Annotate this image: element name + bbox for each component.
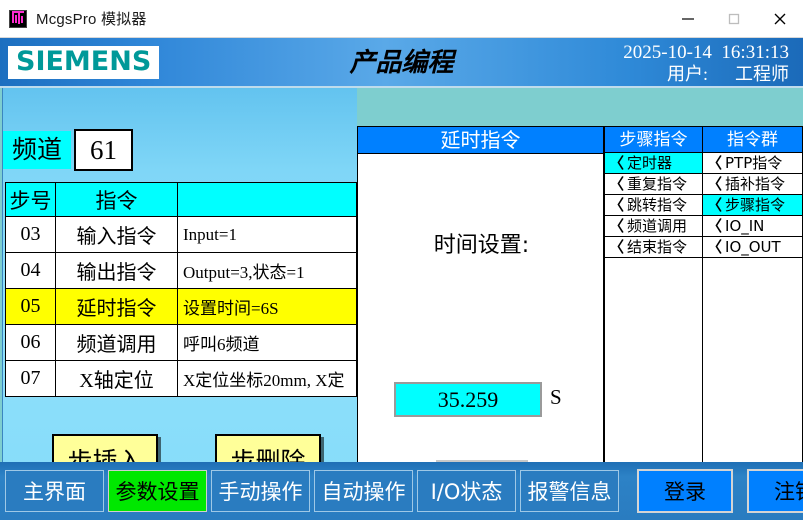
command-group-item-label: 插补指令 [725,175,785,193]
command-name-cell: 频道调用 [56,325,178,361]
minimize-button[interactable] [665,0,711,38]
chevron-left-icon: 〈 [609,154,624,172]
step-command-panel: 步骤指令 〈定时器〈重复指令〈跳转指令〈频道调用〈结束指令 [604,126,703,501]
step-number-cell: 03 [6,217,56,253]
step-command-item-label: 频道调用 [627,217,687,235]
command-group-item[interactable]: 〈插补指令 [703,174,802,195]
step-number-cell: 05 [6,289,56,325]
nav-button-6[interactable]: 登录 [637,469,733,513]
table-row[interactable]: 04输出指令Output=3,状态=1 [6,253,357,289]
chevron-left-icon: 〈 [609,238,624,256]
table-header-row: 步号指令 [6,183,357,217]
app-root: McgsPro 模拟器 SIEMENS 产品编程 2025-10-14 16:3… [0,0,803,520]
nav-button-2[interactable]: 手动操作 [211,470,310,512]
command-group-list: 〈PTP指令〈插补指令〈步骤指令〈IO_IN〈IO_OUT [703,153,802,258]
step-command-panel-header: 步骤指令 [605,127,702,153]
close-button[interactable] [757,0,803,38]
command-group-item[interactable]: 〈IO_IN [703,216,802,237]
nav-button-1[interactable]: 参数设置 [108,470,207,512]
step-command-item-label: 重复指令 [627,175,687,193]
table-row[interactable]: 03输入指令Input=1 [6,217,357,253]
nav-button-label: I/O状态 [431,476,503,506]
bottom-navbar: 主界面参数设置手动操作自动操作I/O状态报警信息登录注销 [0,462,803,520]
nav-button-label: 自动操作 [322,476,406,506]
nav-button-3[interactable]: 自动操作 [314,470,413,512]
command-param-cell: 设置时间=6S [178,289,357,325]
chevron-left-icon: 〈 [707,175,722,193]
command-name-cell: 输出指令 [56,253,178,289]
time-value-input[interactable]: 35.259 [394,382,542,417]
step-command-item-label: 定时器 [627,154,672,172]
maximize-button[interactable] [711,0,757,38]
command-param-cell: 呼叫6频道 [178,325,357,361]
nav-button-label: 参数设置 [116,476,200,506]
nav-button-7[interactable]: 注销 [747,469,803,513]
step-command-item-label: 跳转指令 [627,196,687,214]
command-group-item-label: IO_OUT [725,238,781,256]
table-row[interactable]: 06频道调用呼叫6频道 [6,325,357,361]
table-header-cell [178,183,357,217]
table-header-cell: 指令 [56,183,178,217]
chevron-left-icon: 〈 [609,196,624,214]
chevron-left-icon: 〈 [707,238,722,256]
nav-button-4[interactable]: I/O状态 [417,470,516,512]
command-name-cell: X轴定位 [56,361,178,397]
step-command-item[interactable]: 〈频道调用 [605,216,702,237]
chevron-left-icon: 〈 [707,154,722,172]
command-group-item[interactable]: 〈PTP指令 [703,153,802,174]
command-group-item[interactable]: 〈IO_OUT [703,237,802,258]
command-group-panel: 指令群 〈PTP指令〈插补指令〈步骤指令〈IO_IN〈IO_OUT [703,126,803,501]
command-group-item-label: IO_IN [725,217,764,235]
nav-button-label: 注销 [774,476,803,506]
table-row[interactable]: 05延时指令设置时间=6S [6,289,357,325]
step-command-item-label: 结束指令 [627,238,687,256]
window-titlebar: McgsPro 模拟器 [0,0,803,38]
command-group-item[interactable]: 〈步骤指令 [703,195,802,216]
step-number-cell: 04 [6,253,56,289]
command-name-cell: 输入指令 [56,217,178,253]
command-name-cell: 延时指令 [56,289,178,325]
nav-button-0[interactable]: 主界面 [5,470,104,512]
hmi-screen: SIEMENS 产品编程 2025-10-14 16:31:13 用户: 工程师… [0,38,803,520]
table-header-cell: 步号 [6,183,56,217]
command-group-item-label: 步骤指令 [725,196,785,214]
time-setting-label: 时间设置: [358,227,605,259]
nav-button-5[interactable]: 报警信息 [520,470,619,512]
step-command-item[interactable]: 〈定时器 [605,153,702,174]
user-display: 用户: 工程师 [623,64,789,85]
chevron-left-icon: 〈 [707,196,722,214]
nav-button-label: 手动操作 [219,476,303,506]
nav-button-label: 登录 [664,476,706,506]
command-param-cell: X定位坐标20mm, X定 [178,361,357,397]
step-table: 步号指令03输入指令Input=104输出指令Output=3,状态=105延时… [5,182,357,397]
window-title: McgsPro 模拟器 [36,8,147,29]
datetime-display: 2025-10-14 16:31:13 [623,41,789,64]
step-command-list: 〈定时器〈重复指令〈跳转指令〈频道调用〈结束指令 [605,153,702,258]
step-command-item[interactable]: 〈重复指令 [605,174,702,195]
mcgs-app-icon [9,10,27,28]
chevron-left-icon: 〈 [707,217,722,235]
command-param-cell: Input=1 [178,217,357,253]
command-group-item-label: PTP指令 [725,154,782,172]
command-param-cell: Output=3,状态=1 [178,253,357,289]
dialog-title: 延时指令 [358,127,603,154]
delay-command-dialog: 延时指令 时间设置: 35.259 S 延时确认 [357,126,604,501]
command-group-panel-header: 指令群 [703,127,802,153]
header-status: 2025-10-14 16:31:13 用户: 工程师 [623,41,789,85]
step-number-cell: 07 [6,361,56,397]
header-banner: SIEMENS 产品编程 2025-10-14 16:31:13 用户: 工程师 [0,38,803,88]
chevron-left-icon: 〈 [609,175,624,193]
time-unit-label: S [550,385,562,410]
chevron-left-icon: 〈 [609,217,624,235]
nav-button-label: 报警信息 [528,476,612,506]
step-number-cell: 06 [6,325,56,361]
channel-label: 频道 [3,131,71,169]
channel-value-field[interactable]: 61 [74,129,133,171]
step-command-item[interactable]: 〈跳转指令 [605,195,702,216]
table-row[interactable]: 07X轴定位X定位坐标20mm, X定 [6,361,357,397]
window-controls [665,0,803,38]
nav-button-label: 主界面 [23,476,86,506]
step-command-item[interactable]: 〈结束指令 [605,237,702,258]
